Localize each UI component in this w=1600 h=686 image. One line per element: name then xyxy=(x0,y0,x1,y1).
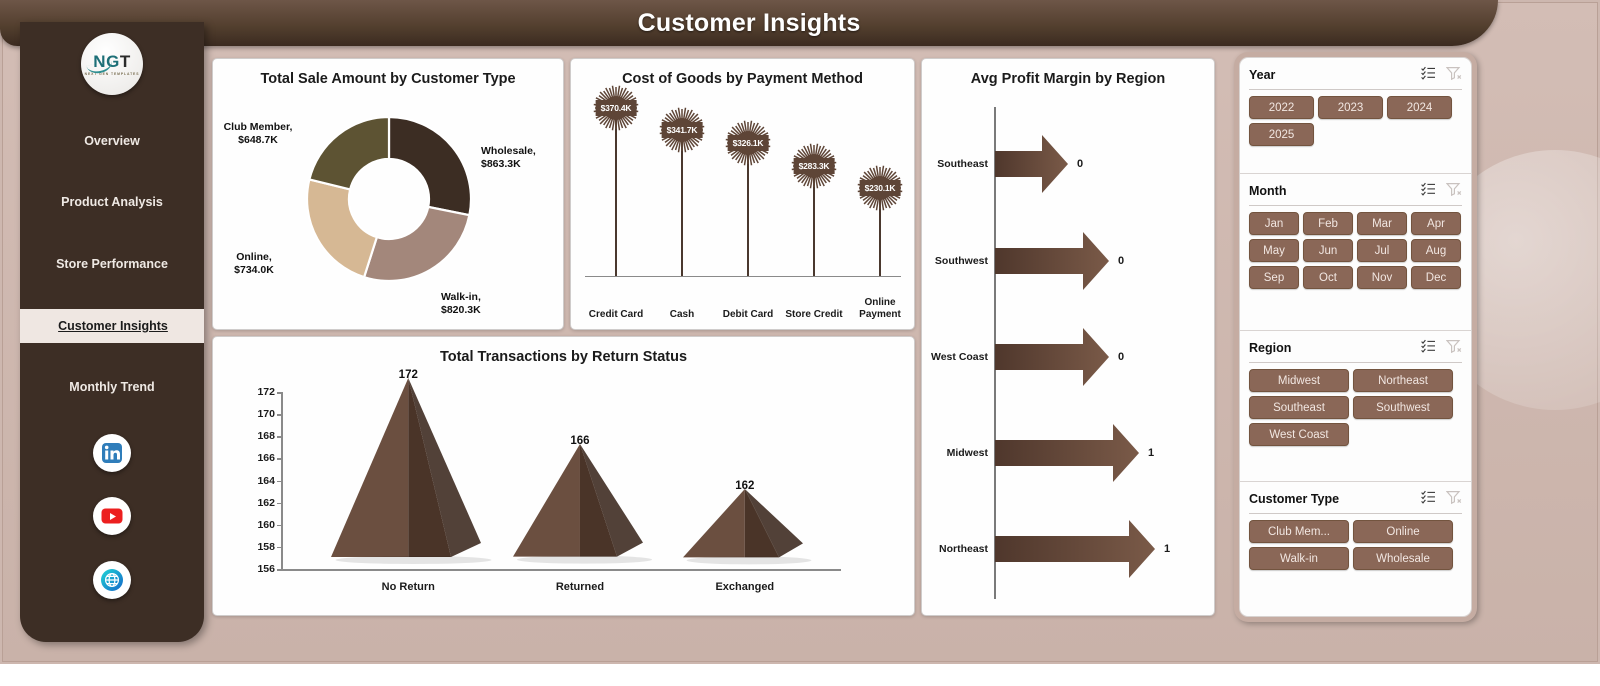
slicer-header: Month xyxy=(1249,180,1462,202)
pyramid-value-label: 172 xyxy=(399,369,418,381)
slicer-option-aug[interactable]: Aug xyxy=(1411,239,1461,262)
slicer-year: Year 2022202320242025 xyxy=(1240,58,1471,174)
donut-chart xyxy=(289,99,489,299)
slicer-month: Month JanFebMarAprMayJunJulAugSepOctNovD… xyxy=(1240,174,1471,331)
slicer-title: Region xyxy=(1249,341,1421,355)
burst-value-label: $326.1K xyxy=(728,135,769,151)
clear-filter-icon[interactable] xyxy=(1446,490,1462,509)
arrow-value-label: 1 xyxy=(1164,543,1170,555)
chart-title: Avg Profit Margin by Region xyxy=(922,71,1214,87)
sidebar-item-customer-insights[interactable]: Customer Insights xyxy=(20,309,204,343)
burst-value-label: $341.7K xyxy=(662,122,703,138)
sidebar-item-monthly-trend[interactable]: Monthly Trend xyxy=(20,370,204,404)
arrow-bar xyxy=(995,424,1139,484)
pyramid-y-tick xyxy=(277,481,282,483)
donut-slice-walk-in[interactable] xyxy=(364,207,469,281)
slicer-option-west-coast[interactable]: West Coast xyxy=(1249,423,1349,446)
multi-select-icon[interactable] xyxy=(1421,66,1436,85)
pyramid-y-tick xyxy=(277,569,282,571)
sidebar-item-product-analysis[interactable]: Product Analysis xyxy=(20,185,204,219)
youtube-icon[interactable] xyxy=(93,497,131,535)
arrow-row-southwest[interactable]: Southwest 0 xyxy=(922,231,1214,291)
slicer-option-oct[interactable]: Oct xyxy=(1303,266,1353,289)
pyramid-bar-no-return[interactable]: 172 No Return xyxy=(331,386,481,567)
slicer-options: MidwestNortheastSoutheastSouthwestWest C… xyxy=(1249,369,1462,446)
slicer-title: Customer Type xyxy=(1249,492,1421,506)
slicer-header: Year xyxy=(1249,64,1462,86)
pyramid-y-tick-label: 164 xyxy=(257,475,275,487)
slicer-option-nov[interactable]: Nov xyxy=(1357,266,1407,289)
chart-card-avg-profit-margin-by-region: Avg Profit Margin by Region Southeast 0S… xyxy=(921,58,1215,616)
pyramid-y-tick xyxy=(277,414,282,416)
slicer-actions xyxy=(1421,490,1462,509)
pyramid-bar-returned[interactable]: 166 Returned xyxy=(513,452,643,567)
filter-panel: Year 2022202320242025 Month xyxy=(1234,52,1477,622)
chart-title: Total Transactions by Return Status xyxy=(213,349,914,365)
pyramid-y-tick xyxy=(277,503,282,505)
burst-value-label: $283.3K xyxy=(794,158,835,174)
burst-value-label: $370.4K xyxy=(596,100,637,116)
slicer-option-2025[interactable]: 2025 xyxy=(1249,123,1314,146)
slicer-header: Customer Type xyxy=(1249,488,1462,510)
slicer-option-southwest[interactable]: Southwest xyxy=(1353,396,1453,419)
website-icon[interactable] xyxy=(93,561,131,599)
slicer-header: Region xyxy=(1249,337,1462,359)
slicer-options: JanFebMarAprMayJunJulAugSepOctNovDec xyxy=(1249,212,1462,289)
pyramid-category-label: No Return xyxy=(382,581,435,593)
sidebar-item-store-performance[interactable]: Store Performance xyxy=(20,247,204,281)
filter-panel-inner: Year 2022202320242025 Month xyxy=(1239,57,1472,617)
slicer-title: Year xyxy=(1249,68,1421,82)
slicer-option-jun[interactable]: Jun xyxy=(1303,239,1353,262)
chart-card-total-sale-by-customer-type: Total Sale Amount by Customer Type Club … xyxy=(212,58,564,330)
pyramid-y-tick xyxy=(277,458,282,460)
donut-label-wholesale: Wholesale, $863.3K xyxy=(481,145,561,171)
page-title: Customer Insights xyxy=(638,9,861,38)
burst-category-label: Cash xyxy=(645,309,719,321)
pyramid-category-label: Exchanged xyxy=(715,581,774,593)
slicer-option-apr[interactable]: Apr xyxy=(1411,212,1461,235)
donut-label-club-member: Club Member, $648.7K xyxy=(223,121,293,147)
slicer-options: Club Mem...OnlineWalk-inWholesale xyxy=(1249,520,1462,570)
slicer-actions xyxy=(1421,339,1462,358)
slicer-customer-type: Customer Type Club Mem...OnlineWalk-inWh… xyxy=(1240,482,1471,617)
donut-label-walk-in: Walk-in, $820.3K xyxy=(441,291,517,317)
arrow-value-label: 0 xyxy=(1077,158,1083,170)
donut-label-online: Online, $734.0K xyxy=(218,251,290,277)
burst-category-label: OnlinePayment xyxy=(843,297,917,320)
arrow-category-label: Southwest xyxy=(922,255,988,267)
arrow-row-southeast[interactable]: Southeast 0 xyxy=(922,134,1214,194)
pyramid-y-tick xyxy=(277,525,282,527)
chart-card-total-transactions-by-return-status: Total Transactions by Return Status 1721… xyxy=(212,336,915,616)
burst-category-label: Credit Card xyxy=(579,309,653,321)
multi-select-icon[interactable] xyxy=(1421,490,1436,509)
donut-slice-wholesale[interactable] xyxy=(389,117,471,215)
dashboard-page: Customer Insights NGT NEXT GEN TEMPLATES… xyxy=(0,0,1600,686)
slicer-option-dec[interactable]: Dec xyxy=(1411,266,1461,289)
sidebar: NGT NEXT GEN TEMPLATES OverviewProduct A… xyxy=(20,22,204,642)
slicer-divider xyxy=(1249,362,1462,363)
pyramid-y-tick-label: 172 xyxy=(257,386,275,398)
clear-filter-icon[interactable] xyxy=(1446,66,1462,85)
burst-stem xyxy=(615,108,617,276)
linkedin-icon[interactable] xyxy=(93,434,131,472)
page-header: Customer Insights xyxy=(0,0,1498,46)
burst-value-label: $230.1K xyxy=(860,180,901,196)
pyramid-y-tick-label: 160 xyxy=(257,519,275,531)
multi-select-icon[interactable] xyxy=(1421,339,1436,358)
slicer-option-sep[interactable]: Sep xyxy=(1249,266,1299,289)
brand-logo: NGT NEXT GEN TEMPLATES xyxy=(81,33,143,95)
sidebar-item-overview[interactable]: Overview xyxy=(20,124,204,158)
donut-slice-club-member[interactable] xyxy=(309,117,389,189)
arrow-row-northeast[interactable]: Northeast 1 xyxy=(922,519,1214,579)
pyramid-bar-exchanged[interactable]: 162 Exchanged xyxy=(683,497,803,567)
sidebar-item-label: Monthly Trend xyxy=(69,380,154,394)
arrow-bar xyxy=(995,135,1068,195)
arrow-bar xyxy=(995,520,1155,580)
chart-title: Total Sale Amount by Customer Type xyxy=(213,71,563,87)
burst-baseline xyxy=(585,276,901,277)
arrow-bar xyxy=(995,328,1109,388)
pyramid-y-tick-label: 166 xyxy=(257,452,275,464)
slicer-option-jul[interactable]: Jul xyxy=(1357,239,1407,262)
slicer-title: Month xyxy=(1249,184,1421,198)
pyramid-value-label: 166 xyxy=(570,435,589,447)
page-bottom-strip xyxy=(0,664,1600,686)
clear-filter-icon[interactable] xyxy=(1446,339,1462,358)
slicer-option-feb[interactable]: Feb xyxy=(1303,212,1353,235)
arrow-bar xyxy=(995,232,1109,292)
slicer-divider xyxy=(1249,89,1462,90)
dashboard-canvas: Total Sale Amount by Customer Type Club … xyxy=(208,52,1228,622)
donut-slice-online[interactable] xyxy=(307,179,377,277)
arrow-value-label: 0 xyxy=(1118,255,1124,267)
arrow-category-label: Northeast xyxy=(922,543,988,555)
pyramid-y-tick-label: 156 xyxy=(257,563,275,575)
arrow-row-midwest[interactable]: Midwest 1 xyxy=(922,423,1214,483)
slicer-option-midwest[interactable]: Midwest xyxy=(1249,369,1349,392)
slicer-divider xyxy=(1249,513,1462,514)
slicer-option-2023[interactable]: 2023 xyxy=(1318,96,1383,119)
sidebar-item-label: Overview xyxy=(84,134,140,148)
slicer-option-club-mem-[interactable]: Club Mem... xyxy=(1249,520,1349,543)
multi-select-icon[interactable] xyxy=(1421,182,1436,201)
slicer-option-southeast[interactable]: Southeast xyxy=(1249,396,1349,419)
arrow-category-label: West Coast xyxy=(922,351,988,363)
pyramid-value-label: 162 xyxy=(735,480,754,492)
sidebar-item-label: Product Analysis xyxy=(61,195,163,209)
sidebar-item-label: Store Performance xyxy=(56,257,168,271)
pyramid-y-tick-label: 162 xyxy=(257,497,275,509)
slicer-option-2022[interactable]: 2022 xyxy=(1249,96,1314,119)
arrow-category-label: Southeast xyxy=(922,158,988,170)
slicer-divider xyxy=(1249,205,1462,206)
slicer-region: Region MidwestNortheastSoutheastSouthwes… xyxy=(1240,331,1471,482)
slicer-actions xyxy=(1421,182,1462,201)
slicer-option-wholesale[interactable]: Wholesale xyxy=(1353,547,1453,570)
burst-category-label: Store Credit xyxy=(777,309,851,321)
clear-filter-icon[interactable] xyxy=(1446,182,1462,201)
pyramid-y-tick-label: 158 xyxy=(257,541,275,553)
pyramid-y-tick xyxy=(277,436,282,438)
pyramid-y-tick-label: 168 xyxy=(257,430,275,442)
pyramid-x-axis xyxy=(281,569,841,571)
slicer-actions xyxy=(1421,66,1462,85)
slicer-options: 2022202320242025 xyxy=(1249,96,1462,146)
burst-category-label: Debit Card xyxy=(711,309,785,321)
pyramid-y-tick xyxy=(277,547,282,549)
slicer-option-northeast[interactable]: Northeast xyxy=(1353,369,1453,392)
arrow-value-label: 1 xyxy=(1148,447,1154,459)
slicer-option-2024[interactable]: 2024 xyxy=(1387,96,1452,119)
arrow-value-label: 0 xyxy=(1118,351,1124,363)
chart-card-cost-of-goods-by-payment-method: Cost of Goods by Payment Method $370.4KC… xyxy=(570,58,915,330)
pyramid-y-tick xyxy=(277,392,282,394)
pyramid-y-tick-label: 170 xyxy=(257,408,275,420)
arrow-category-label: Midwest xyxy=(922,447,988,459)
slicer-option-walk-in[interactable]: Walk-in xyxy=(1249,547,1349,570)
slicer-option-jan[interactable]: Jan xyxy=(1249,212,1299,235)
slicer-option-mar[interactable]: Mar xyxy=(1357,212,1407,235)
sidebar-item-label: Customer Insights xyxy=(58,319,168,333)
slicer-option-may[interactable]: May xyxy=(1249,239,1299,262)
slicer-option-online[interactable]: Online xyxy=(1353,520,1453,543)
arrow-row-west-coast[interactable]: West Coast 0 xyxy=(922,327,1214,387)
pyramid-category-label: Returned xyxy=(556,581,604,593)
